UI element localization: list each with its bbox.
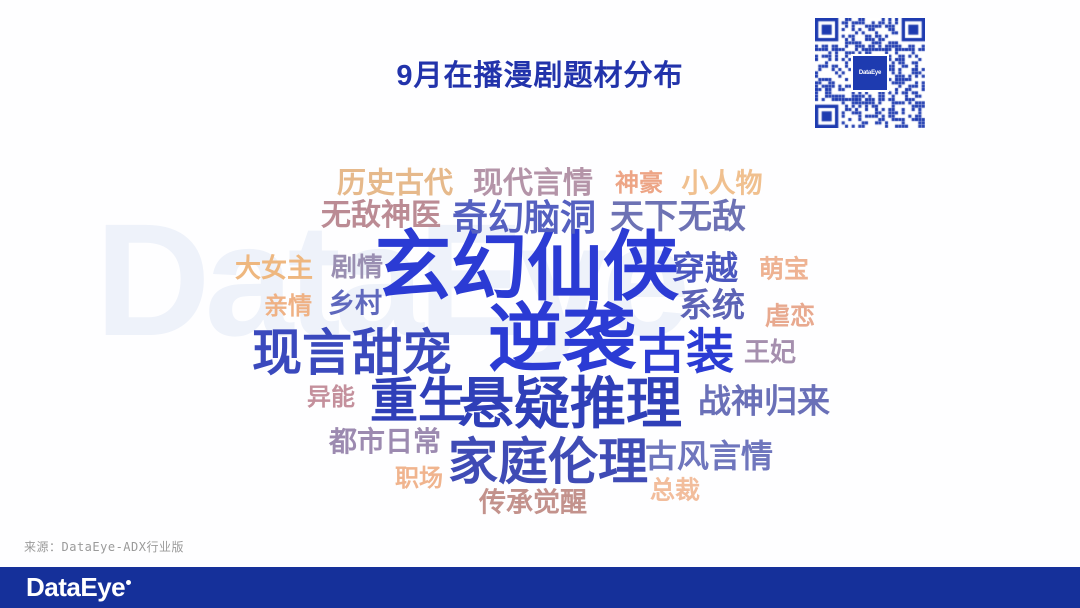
wordcloud-word: 神豪: [615, 172, 663, 196]
wordcloud-word: 总裁: [650, 479, 700, 504]
wordcloud-word: 无敌神医: [321, 201, 441, 231]
wordcloud-word: 穿越: [672, 252, 738, 285]
wordcloud-word: 悬疑推理: [458, 376, 682, 432]
wordcloud-word: 玄幻仙侠: [375, 230, 679, 306]
wordcloud-word: 现言甜宠: [252, 328, 452, 378]
wordcloud-word: 现代言情: [473, 169, 593, 199]
wordcloud-word: 系统: [679, 289, 745, 322]
wordcloud-word: 亲情: [264, 295, 312, 319]
source-caption: 来源：DataEye-ADX行业版: [24, 538, 184, 555]
wordcloud-word: 大女主: [235, 255, 313, 281]
wordcloud-word: 传承觉醒: [479, 490, 587, 517]
wordcloud-word: 乡村: [328, 291, 382, 318]
wordcloud-word: 虐恋: [765, 305, 815, 330]
wordcloud-word: 剧情: [331, 254, 383, 280]
wordcloud-word: 重生: [370, 378, 466, 426]
wordcloud-word: 天下无敌: [610, 200, 746, 234]
wordcloud-word: 古装: [638, 329, 734, 377]
wordcloud-word: 历史古代: [337, 170, 453, 199]
wordcloud-word: 古风言情: [645, 440, 773, 472]
wordcloud-word: 都市日常: [329, 428, 441, 456]
wordcloud-chart: 玄幻仙侠逆袭悬疑推理家庭伦理现言甜宠重生古装奇幻脑洞天下无敌战神归来古风言情穿越…: [0, 0, 1080, 545]
wordcloud-word: 小人物: [682, 171, 763, 198]
footer-logo: DataEye: [26, 572, 131, 603]
wordcloud-word: 战神归来: [698, 385, 830, 418]
wordcloud-word: 奇幻脑洞: [452, 200, 596, 236]
wordcloud-word: 异能: [307, 386, 355, 410]
wordcloud-word: 萌宝: [759, 258, 809, 283]
footer-logo-dot-icon: [126, 580, 131, 585]
wordcloud-word: 家庭伦理: [448, 437, 648, 487]
wordcloud-word: 职场: [395, 467, 443, 491]
footer-bar: DataEye: [0, 567, 1080, 608]
footer-logo-label: DataEye: [26, 572, 125, 603]
slide-canvas: DataEye 9月在播漫剧题材分布 DataEye 玄幻仙侠逆袭悬疑推理家庭伦…: [0, 0, 1080, 608]
wordcloud-word: 逆袭: [488, 302, 636, 376]
wordcloud-word: 王妃: [744, 339, 796, 365]
